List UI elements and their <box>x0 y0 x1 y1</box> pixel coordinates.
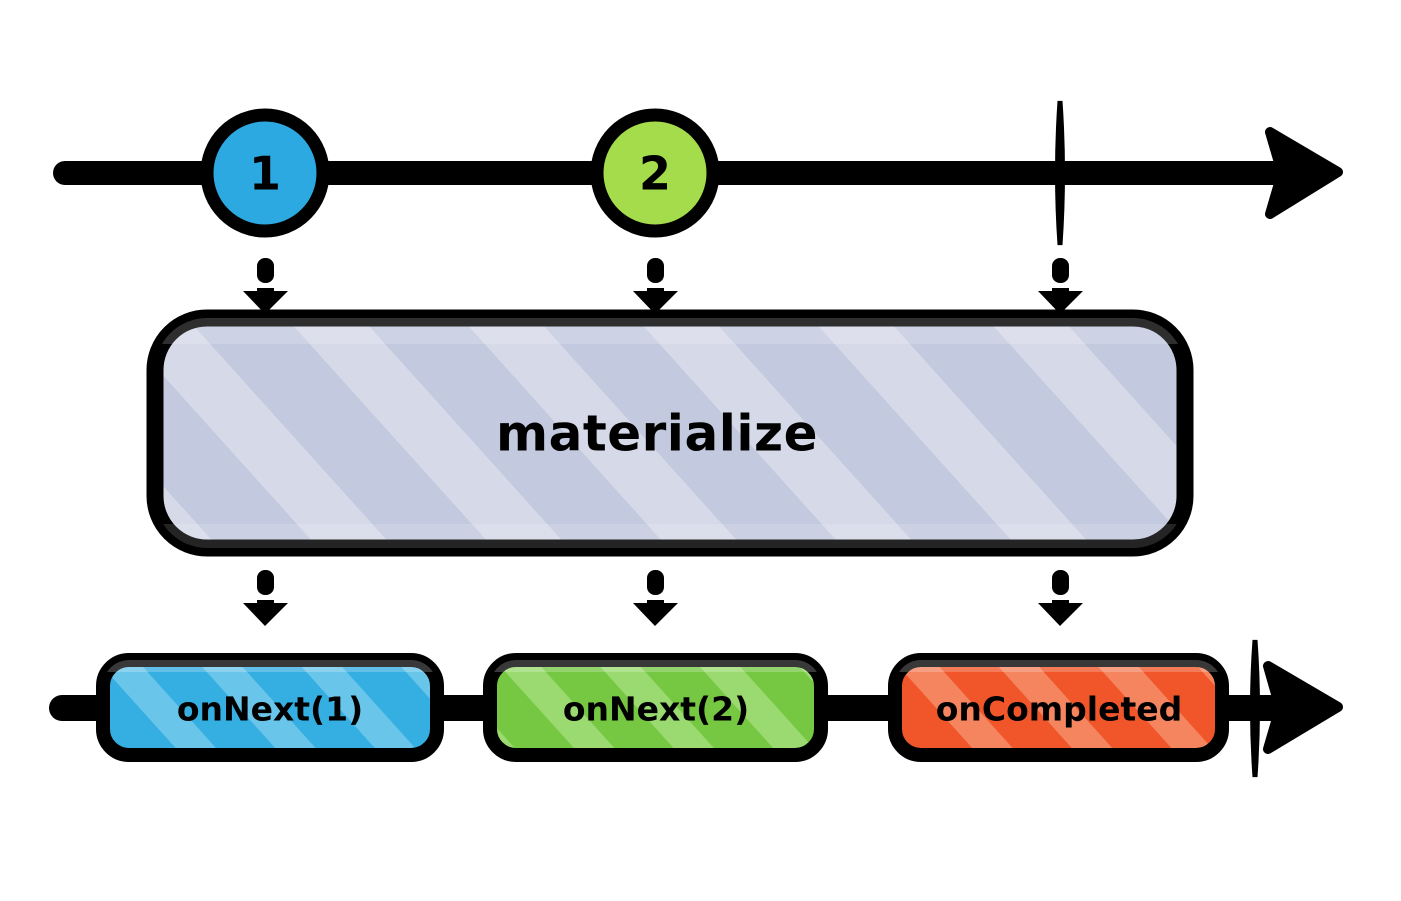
connectors-out-of-operator <box>243 570 1083 626</box>
dashed-down-arrow-icon <box>633 258 678 314</box>
dashed-down-arrow-icon <box>1038 258 1083 314</box>
dashed-down-arrow-icon <box>633 570 678 626</box>
result-notification-1[interactable]: onNext(1) <box>103 660 437 755</box>
source-marble-1[interactable]: 1 <box>207 115 323 231</box>
source-timeline: 1 2 <box>65 101 1338 245</box>
marble-diagram-canvas: 1 2 <box>0 0 1401 901</box>
source-marble-2-label: 2 <box>639 147 671 201</box>
result-notification-2[interactable]: onNext(2) <box>490 660 821 755</box>
materialize-operator-box[interactable]: materialize <box>155 318 1185 548</box>
result-notification-3[interactable]: onCompleted <box>895 660 1222 755</box>
source-marble-1-label: 1 <box>249 147 281 201</box>
dashed-down-arrow-icon <box>1038 570 1083 626</box>
result-timeline: onNext(1) onNext(2) onCompleted <box>62 640 1338 777</box>
dashed-down-arrow-icon <box>243 258 288 314</box>
result-timeline-arrowhead <box>1268 666 1338 749</box>
source-completion-marker <box>1058 101 1063 245</box>
connectors-into-operator <box>243 258 1083 314</box>
marble-diagram-svg: 1 2 <box>0 0 1401 901</box>
source-timeline-arrowhead <box>1270 132 1338 214</box>
source-marble-2[interactable]: 2 <box>597 115 713 231</box>
dashed-down-arrow-icon <box>243 570 288 626</box>
result-notification-2-label: onNext(2) <box>563 690 749 729</box>
result-completion-marker <box>1253 640 1258 777</box>
operator-box-label: materialize <box>496 405 818 463</box>
result-notification-1-label: onNext(1) <box>177 690 363 729</box>
result-notification-3-label: onCompleted <box>936 690 1183 729</box>
